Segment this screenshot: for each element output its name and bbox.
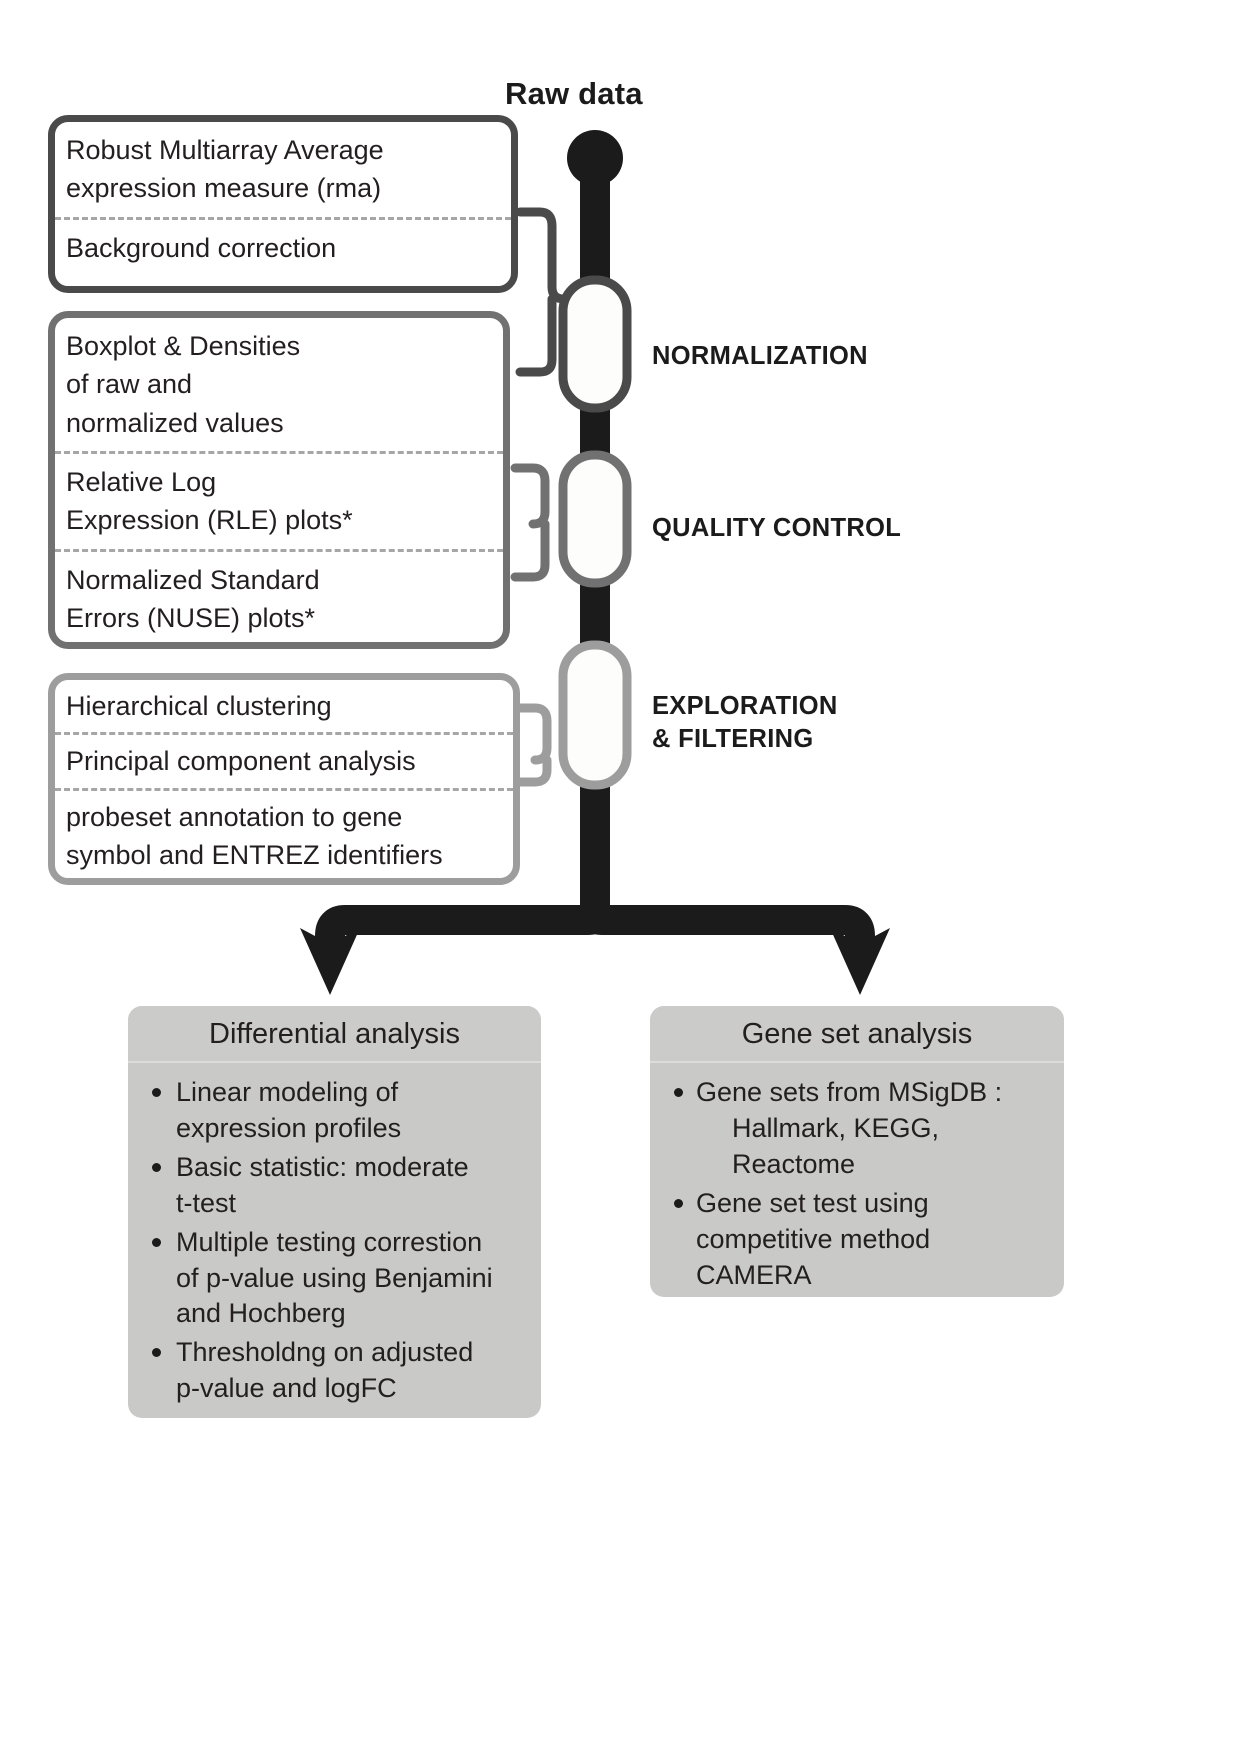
task-row-nuse-plots: Normalized Standard Errors (NUSE) plots* <box>55 549 503 647</box>
capsule-quality-control <box>515 455 627 583</box>
list-item-line: of p-value using Benjamini <box>176 1263 493 1293</box>
capsule-normalization <box>520 212 627 408</box>
task-line: normalized values <box>66 404 503 442</box>
task-line: symbol and ENTREZ identifiers <box>66 836 513 874</box>
task-box-normalization: Robust Multiarray Average expression mea… <box>48 115 518 293</box>
result-panel-gene-set-analysis: Gene set analysis Gene sets from MSigDB … <box>650 1006 1064 1297</box>
bullet-icon <box>152 1163 161 1172</box>
stage-label-exploration-line2: & FILTERING <box>652 723 838 756</box>
task-line: Normalized Standard <box>66 561 503 599</box>
spine-trunk <box>567 130 623 895</box>
task-row-rle-plots: Relative Log Expression (RLE) plots* <box>55 451 503 549</box>
stage-label-exploration-filtering: EXPLORATION & FILTERING <box>652 690 838 755</box>
raw-data-title: Raw data <box>505 76 805 112</box>
result-list-geneset: Gene sets from MSigDB : Hallmark, KEGG, … <box>650 1063 1064 1297</box>
task-box-exploration-filtering: Hierarchical clustering Principal compon… <box>48 673 520 885</box>
task-line: Relative Log <box>66 463 503 501</box>
task-row-hierarchical-clustering: Hierarchical clustering <box>55 680 513 732</box>
task-line: Background correction <box>66 229 511 267</box>
bullet-icon <box>674 1199 683 1208</box>
task-row-probeset-annotation: probeset annotation to gene symbol and E… <box>55 788 513 882</box>
result-list-differential: Linear modeling of expression profiles B… <box>128 1063 541 1418</box>
stage-label-normalization: NORMALIZATION <box>652 340 868 373</box>
flowchart-canvas: Raw data NORMALIZATION QUALITY CONTROL E… <box>0 0 1240 1753</box>
result-panel-title: Gene set analysis <box>650 1006 1064 1063</box>
list-item-line: and Hochberg <box>176 1298 346 1328</box>
list-item-line: Gene set test using <box>696 1188 929 1218</box>
list-item-line: p-value and logFC <box>176 1373 397 1403</box>
list-item: Thresholdng on adjusted p-value and logF… <box>150 1335 527 1407</box>
list-item-line: Thresholdng on adjusted <box>176 1337 473 1367</box>
bullet-icon <box>152 1088 161 1097</box>
task-line: Boxplot & Densities <box>66 327 503 365</box>
list-item-line: Basic statistic: moderate <box>176 1152 469 1182</box>
bullet-icon <box>152 1238 161 1247</box>
list-item-line: CAMERA <box>696 1260 812 1290</box>
list-item: Multiple testing correstion of p-value u… <box>150 1225 527 1333</box>
list-item: Gene set test using competitive method C… <box>672 1186 1050 1294</box>
task-line: expression measure (rma) <box>66 169 511 207</box>
list-item-line: t-test <box>176 1188 236 1218</box>
bullet-icon <box>152 1348 161 1357</box>
list-item: Gene sets from MSigDB : Hallmark, KEGG, … <box>672 1075 1050 1183</box>
task-row-rma: Robust Multiarray Average expression mea… <box>55 122 511 217</box>
list-item-line: Linear modeling of <box>176 1077 398 1107</box>
list-item-line: Hallmark, KEGG, <box>696 1111 939 1147</box>
task-line: Hierarchical clustering <box>66 687 513 725</box>
list-item-line: expression profiles <box>176 1113 401 1143</box>
list-item: Basic statistic: moderate t-test <box>150 1150 527 1222</box>
list-item-line: Reactome <box>696 1147 855 1183</box>
stage-label-exploration-line1: EXPLORATION <box>652 690 838 723</box>
task-line: Expression (RLE) plots* <box>66 501 503 539</box>
task-row-background-correction: Background correction <box>55 217 511 276</box>
list-item-line: Multiple testing correstion <box>176 1227 482 1257</box>
task-line: Robust Multiarray Average <box>66 131 511 169</box>
list-item-line: Gene sets from MSigDB : <box>696 1077 1002 1107</box>
result-panel-differential-analysis: Differential analysis Linear modeling of… <box>128 1006 541 1418</box>
task-line: Errors (NUSE) plots* <box>66 599 503 637</box>
task-line: of raw and <box>66 365 503 403</box>
task-line: probeset annotation to gene <box>66 798 513 836</box>
stage-label-quality-control: QUALITY CONTROL <box>652 512 901 545</box>
capsule-exploration <box>520 645 627 785</box>
result-panel-title: Differential analysis <box>128 1006 541 1063</box>
task-row-boxplot-densities: Boxplot & Densities of raw and normalize… <box>55 318 503 451</box>
list-item-line: competitive method <box>696 1224 930 1254</box>
task-line: Principal component analysis <box>66 742 513 780</box>
task-row-pca: Principal component analysis <box>55 732 513 787</box>
list-item: Linear modeling of expression profiles <box>150 1075 527 1147</box>
bullet-icon <box>674 1088 683 1097</box>
branch-arrows <box>300 893 890 995</box>
task-box-quality-control: Boxplot & Densities of raw and normalize… <box>48 311 510 649</box>
